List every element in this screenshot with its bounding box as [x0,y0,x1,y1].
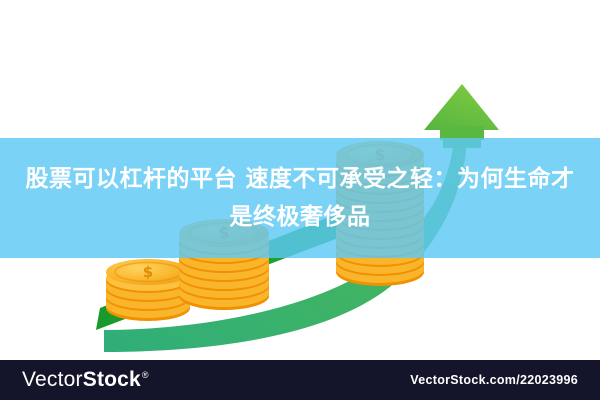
screenshot-canvas: $ $ [0,0,600,400]
logo-word-vector: Vector [22,368,83,392]
watermark-url: VectorStock.com/22023996 [410,373,578,387]
registered-trademark-icon: ® [142,371,149,380]
vectorstock-logo: VectorStock® [22,368,149,392]
headline-banner: 股票可以杠杆的平台 速度不可承受之轻：为何生命才是终极奢侈品 [0,138,600,258]
logo-word-stock: Stock [83,368,141,392]
headline-text: 股票可以杠杆的平台 速度不可承受之轻：为何生命才是终极奢侈品 [20,160,580,236]
watermark-footer: VectorStock® VectorStock.com/22023996 [0,360,600,400]
top-white-mask [0,0,600,138]
